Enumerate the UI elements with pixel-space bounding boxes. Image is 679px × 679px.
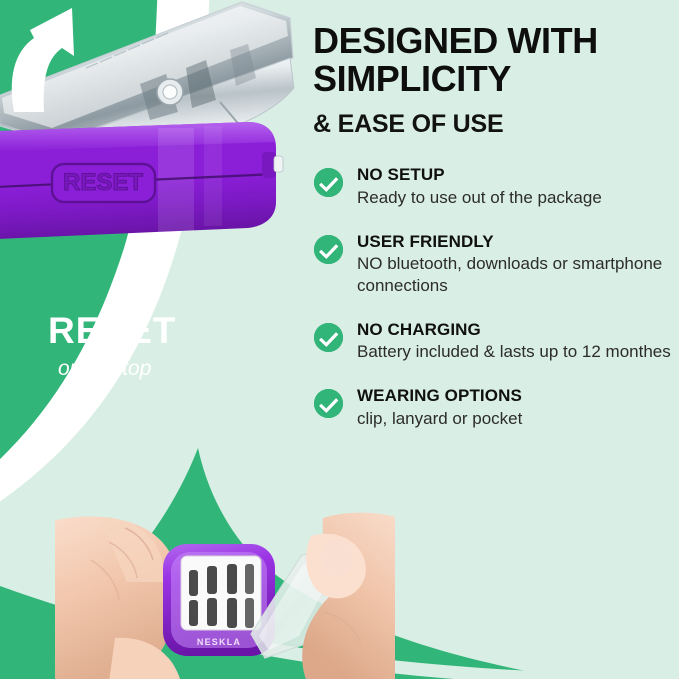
reset-button-label: RESET [63,169,143,196]
device-brand-label: NESKLA [197,637,241,647]
purple-device-body: RESET [0,122,283,240]
title-line-2: SIMPLICITY [313,58,511,99]
reset-callout-label: RESET [48,312,176,349]
feature-title: NO CHARGING [357,320,673,340]
feature-text: NO CHARGING Battery included & lasts up … [357,320,673,363]
check-circle-icon [313,322,344,353]
feature-description: Ready to use out of the package [357,187,673,209]
feature-list: NO SETUP Ready to use out of the package… [313,165,673,429]
page-subtitle: & EASE OF USE [313,110,673,139]
feature-item-no-charging: NO CHARGING Battery included & lasts up … [313,320,673,363]
check-circle-icon [313,388,344,419]
feature-text: NO SETUP Ready to use out of the package [357,165,673,208]
product-photo-hands: NESKLA [55,512,395,679]
feature-title: NO SETUP [357,165,673,185]
feature-item-wearing-options: WEARING OPTIONS clip, lanyard or pocket [313,386,673,429]
check-circle-icon [313,167,344,198]
page-title: DESIGNED WITH SIMPLICITY [313,22,673,98]
reset-callout-sublabel: on the top [58,358,151,379]
infographic-canvas: RESET RESET on the top [0,0,679,679]
feature-description: Battery included & lasts up to 12 monthe… [357,341,673,363]
left-hand [55,516,181,679]
content-column: DESIGNED WITH SIMPLICITY & EASE OF USE N… [313,22,673,452]
reset-button-emboss: RESET [52,164,155,202]
check-circle-icon [313,234,344,265]
feature-item-no-setup: NO SETUP Ready to use out of the package [313,165,673,208]
title-line-1: DESIGNED WITH [313,20,598,61]
feature-description: NO bluetooth, downloads or smartphone co… [357,253,673,297]
feature-title: WEARING OPTIONS [357,386,673,406]
curved-arrow-up-icon [0,0,100,115]
feature-item-user-friendly: USER FRIENDLY NO bluetooth, downloads or… [313,232,673,297]
feature-title: USER FRIENDLY [357,232,673,252]
feature-text: WEARING OPTIONS clip, lanyard or pocket [357,386,673,429]
feature-text: USER FRIENDLY NO bluetooth, downloads or… [357,232,673,297]
feature-description: clip, lanyard or pocket [357,408,673,430]
